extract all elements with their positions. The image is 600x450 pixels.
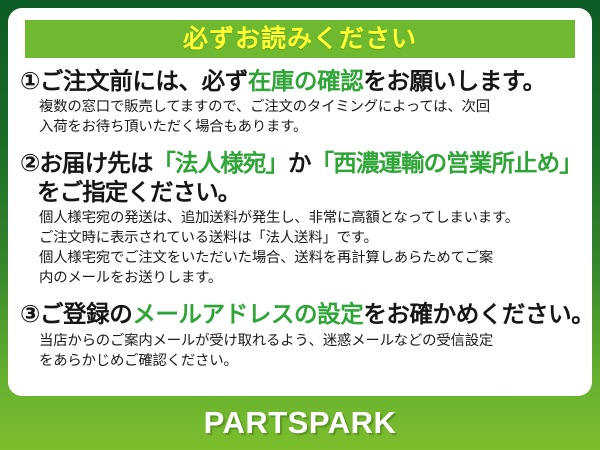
notice-item-3-heading-part2: をお確かめください。 bbox=[363, 301, 592, 327]
notice-item-2: ②お届け先は「法人様宛」か「西濃運輸の営業所止め」をご指定ください。 個人様宅宛… bbox=[8, 149, 592, 288]
notice-item-3-heading-part1: ご登録の bbox=[40, 301, 132, 327]
notice-item-3-body-line-2: をあらかじめご確認ください。 bbox=[39, 352, 582, 372]
notice-item-3-number: ③ bbox=[20, 301, 40, 328]
notice-item-1-heading: ①ご注文前には、必ず在庫の確認をお願いします。 bbox=[20, 67, 582, 96]
notice-item-2-body-line-3: 個人様宅宛でご注文をいただいた場合、送料を再計算しあらためてご案 bbox=[39, 249, 582, 269]
notice-item-2-heading-line-2: をご指定ください。 bbox=[37, 178, 582, 207]
notice-item-2-number: ② bbox=[20, 150, 39, 177]
notice-item-3-body: 当店からのご案内メールが受け取れるよう、迷惑メールなどの受信設定 をあらかじめご… bbox=[39, 332, 582, 372]
notice-item-1-number: ① bbox=[20, 68, 40, 95]
notice-item-1-body-line-1: 複数の窓口で販売してますので、ご注文のタイミングによっては、次回 bbox=[39, 98, 582, 118]
notice-item-1-body: 複数の窓口で販売してますので、ご注文のタイミングによっては、次回 入荷をお待ち頂… bbox=[39, 98, 582, 138]
notice-item-2-body: 個人様宅宛の発送は、追加送料が発生し、非常に高額となってしまいます。 ご注文時に… bbox=[39, 209, 582, 289]
notice-item-1: ①ご注文前には、必ず在庫の確認をお願いします。 複数の窓口で販売してますので、ご… bbox=[8, 67, 592, 138]
notice-item-2-body-line-2: ご注文時に表示されている送料は「法人送料」です。 bbox=[39, 229, 582, 249]
footer-brand-band: PARTSPARK bbox=[0, 396, 600, 450]
page-title: 必ずお読みください bbox=[183, 27, 417, 52]
notice-item-1-heading-part2: をお願いします。 bbox=[363, 68, 545, 94]
notice-item-2-body-line-1: 個人様宅宛の発送は、追加送料が発生し、非常に高額となってしまいます。 bbox=[39, 209, 582, 229]
notice-item-2-heading-highlight-1: 「法人様宛」 bbox=[152, 150, 288, 176]
notice-item-3-body-line-1: 当店からのご案内メールが受け取れるよう、迷惑メールなどの受信設定 bbox=[39, 332, 582, 352]
notice-item-3-heading: ③ご登録のメールアドレスの設定をお確かめください。 bbox=[20, 300, 582, 329]
notice-items-list: ①ご注文前には、必ず在庫の確認をお願いします。 複数の窓口で販売してますので、ご… bbox=[8, 66, 592, 371]
notice-content-card: 必ずお読みください ①ご注文前には、必ず在庫の確認をお願いします。 複数の窓口で… bbox=[8, 8, 592, 396]
notice-item-2-heading-part1: お届け先は bbox=[39, 150, 152, 176]
notice-item-1-heading-part1: ご注文前には、必ず bbox=[40, 68, 248, 94]
notice-item-3-heading-highlight: メールアドレスの設定 bbox=[132, 301, 363, 327]
notice-header-bar: 必ずお読みください bbox=[25, 20, 575, 58]
notice-item-2-heading-highlight-2: 「西濃運輸の営業所止め」 bbox=[311, 150, 582, 176]
notice-item-1-heading-highlight: 在庫の確認 bbox=[248, 68, 364, 94]
notice-item-3: ③ご登録のメールアドレスの設定をお確かめください。 当店からのご案内メールが受け… bbox=[8, 300, 592, 371]
notice-banner: 必ずお読みください ①ご注文前には、必ず在庫の確認をお願いします。 複数の窓口で… bbox=[0, 0, 600, 450]
notice-item-1-body-line-2: 入荷をお待ち頂いただく場合もあります。 bbox=[39, 118, 582, 138]
notice-item-2-body-line-4: 内のメールをお送りします。 bbox=[39, 269, 582, 289]
notice-item-2-heading-middle: か bbox=[288, 150, 311, 176]
notice-item-2-heading: ②お届け先は「法人様宛」か「西濃運輸の営業所止め」をご指定ください。 bbox=[20, 149, 582, 207]
brand-logo-text: PARTSPARK bbox=[204, 405, 397, 441]
